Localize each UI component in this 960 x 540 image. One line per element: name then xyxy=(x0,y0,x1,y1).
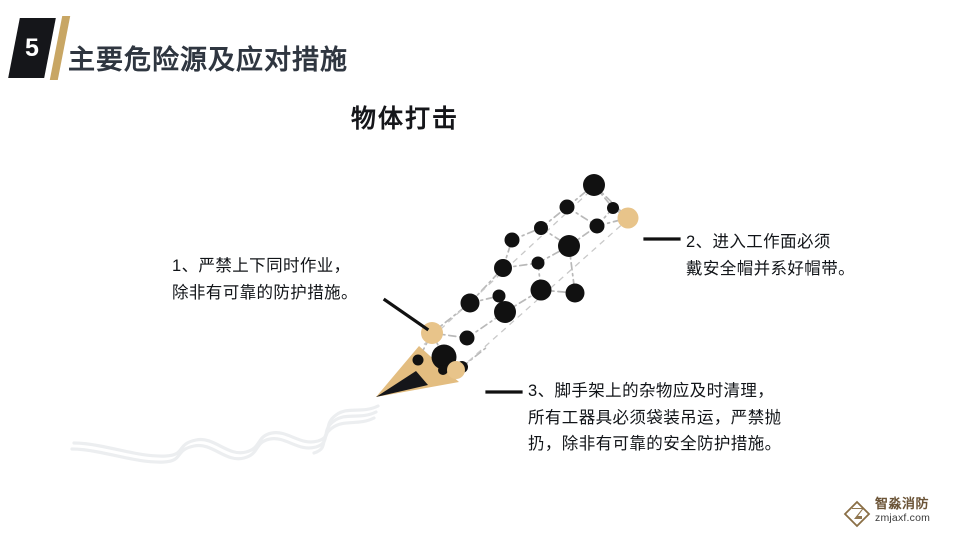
logo-url: zmjaxf.com xyxy=(875,512,955,525)
section-number-badge: 5 xyxy=(14,16,76,80)
callout-text-2: 2、进入工作面必须 戴安全帽并系好帽带。 xyxy=(686,229,936,282)
watermark-logo: 智淼消防 zmjaxf.com xyxy=(843,497,955,533)
pencil-dots xyxy=(413,174,629,375)
dot-connectors xyxy=(418,185,628,370)
logo-text-block: 智淼消防 zmjaxf.com xyxy=(875,497,955,525)
pencil-highlight-dots xyxy=(421,208,639,380)
pencil-body-edges xyxy=(416,182,636,376)
badge-number-text: 5 xyxy=(14,18,50,78)
section-subtitle-text: 物体打击 xyxy=(351,99,459,135)
diamond-logo-icon xyxy=(843,500,871,528)
callout-leader-lines xyxy=(385,239,679,392)
page-title: 主要危险源及应对措施 xyxy=(68,38,348,77)
section-subtitle: 物体打击 xyxy=(0,99,960,135)
slide-header: 5 主要危险源及应对措施 xyxy=(0,0,960,96)
logo-company-name: 智淼消防 xyxy=(875,497,955,512)
pencil-wood-tip xyxy=(376,346,459,397)
callout-text-1: 1、严禁上下同时作业， 除非有可靠的防护措施。 xyxy=(172,253,424,306)
callout-text-3: 3、脚手架上的杂物应及时清理， 所有工器具必须袋装吊运，严禁抛 扔，除非有可靠的… xyxy=(528,378,858,458)
scribble-trail xyxy=(72,406,378,462)
pencil-graphite-point xyxy=(376,371,428,397)
slide-root: 5 主要危险源及应对措施 物体打击 xyxy=(0,0,960,540)
